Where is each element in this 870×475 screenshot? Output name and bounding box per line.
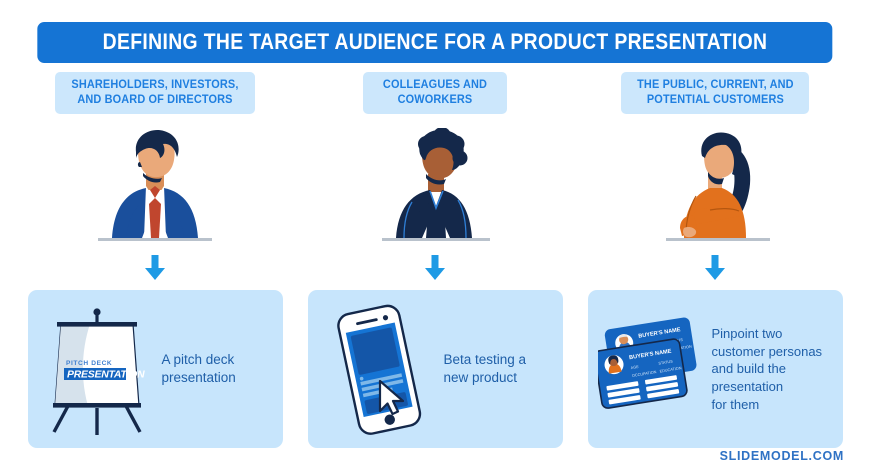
- audience-badge-label: SHAREHOLDERS, INVESTORS, AND BOARD OF DI…: [71, 78, 238, 107]
- coworker-dark-suit-icon: [360, 128, 510, 246]
- outcome-caption-3: Pinpoint two customer personas and build…: [712, 325, 831, 415]
- brand-watermark: SLIDEMODEL.COM: [720, 449, 844, 463]
- audience-badge-label: THE PUBLIC, CURRENT, AND POTENTIAL CUSTO…: [637, 78, 794, 107]
- buyer-persona-cards-icon: BUYER'S NAME AGE STATUS OCCUPATION EDUCA…: [598, 309, 706, 429]
- coworker-illustration: [360, 128, 510, 246]
- down-arrow-icon: [424, 255, 446, 281]
- smartphone-illustration: [318, 299, 438, 439]
- page-title: DEFINING THE TARGET AUDIENCE FOR A PRODU…: [103, 31, 768, 53]
- slide-title-bar: DEFINING THE TARGET AUDIENCE FOR A PRODU…: [37, 22, 832, 63]
- outcome-panel-personas: BUYER'S NAME AGE STATUS OCCUPATION EDUCA…: [588, 290, 843, 448]
- outcome-caption-1: A pitch deck presentation: [162, 351, 271, 388]
- down-arrow-icon: [144, 255, 166, 281]
- flow-arrow-3: [704, 254, 726, 282]
- down-arrow-icon: [704, 255, 726, 281]
- flow-arrow-2: [424, 254, 446, 282]
- flipchart-pitch-deck-icon: PITCH DECK PRESENTATION: [38, 302, 156, 436]
- businessman-blue-suit-icon: [80, 128, 230, 246]
- outcome-panel-pitch-deck: PITCH DECK PRESENTATION A pitch deck pre…: [28, 290, 283, 448]
- audience-column-colleagues: COLLEAGUES AND COWORKERS: [302, 72, 568, 448]
- customer-orange-sweater-icon: [640, 128, 790, 246]
- flipchart-illustration: PITCH DECK PRESENTATION: [38, 302, 156, 436]
- infographic-slide: DEFINING THE TARGET AUDIENCE FOR A PRODU…: [0, 0, 870, 475]
- audience-badge-shareholders: SHAREHOLDERS, INVESTORS, AND BOARD OF DI…: [55, 72, 255, 114]
- audience-column-shareholders: SHAREHOLDERS, INVESTORS, AND BOARD OF DI…: [22, 72, 288, 448]
- svg-text:PITCH DECK: PITCH DECK: [66, 360, 112, 367]
- audience-column-public: THE PUBLIC, CURRENT, AND POTENTIAL CUSTO…: [582, 72, 848, 448]
- persona-cards-illustration: BUYER'S NAME AGE STATUS OCCUPATION EDUCA…: [598, 309, 706, 429]
- flow-arrow-1: [144, 254, 166, 282]
- audience-badge-public: THE PUBLIC, CURRENT, AND POTENTIAL CUSTO…: [621, 72, 810, 114]
- businessman-illustration: [80, 128, 230, 246]
- outcome-caption-2: Beta testing a new product: [444, 351, 551, 388]
- outcome-panel-beta-testing: Beta testing a new product: [308, 290, 563, 448]
- svg-text:PRESENTATION: PRESENTATION: [67, 370, 145, 381]
- customer-illustration: [640, 128, 790, 246]
- audience-badge-label: COLLEAGUES AND COWORKERS: [378, 78, 492, 107]
- smartphone-with-cursor-icon: [318, 299, 438, 439]
- audience-badge-colleagues: COLLEAGUES AND COWORKERS: [363, 72, 507, 114]
- audience-columns: SHAREHOLDERS, INVESTORS, AND BOARD OF DI…: [22, 72, 848, 448]
